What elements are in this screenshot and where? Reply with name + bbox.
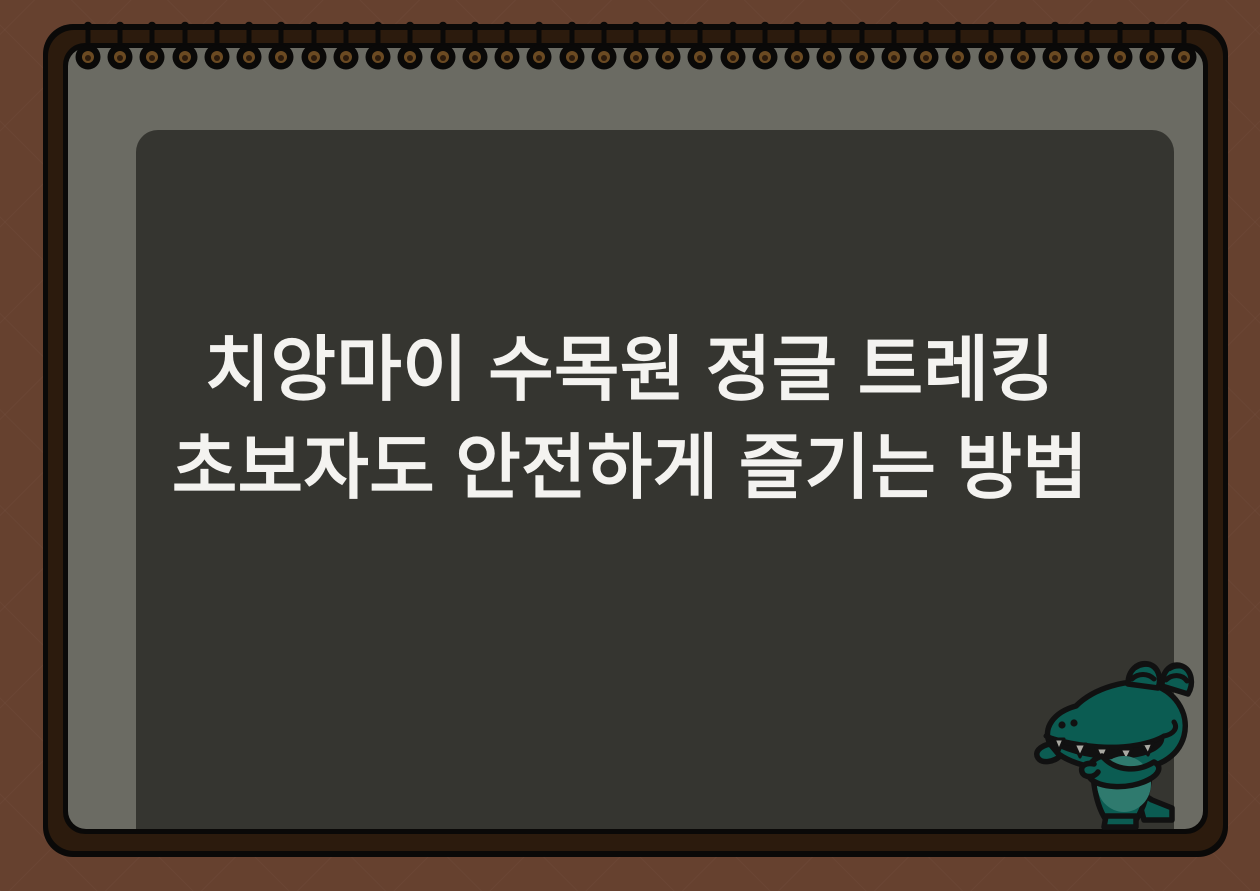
poster-canvas: 치앙마이 수목원 정글 트레킹 초보자도 안전하게 즐기는 방법 [0, 0, 1260, 891]
crocodile-mascot-icon [1032, 640, 1204, 835]
title-line-1: 치앙마이 수목원 정글 트레킹 [40, 322, 1220, 420]
title-line-2: 초보자도 안전하게 즐기는 방법 [40, 420, 1220, 518]
page-title: 치앙마이 수목원 정글 트레킹 초보자도 안전하게 즐기는 방법 [0, 322, 1260, 518]
